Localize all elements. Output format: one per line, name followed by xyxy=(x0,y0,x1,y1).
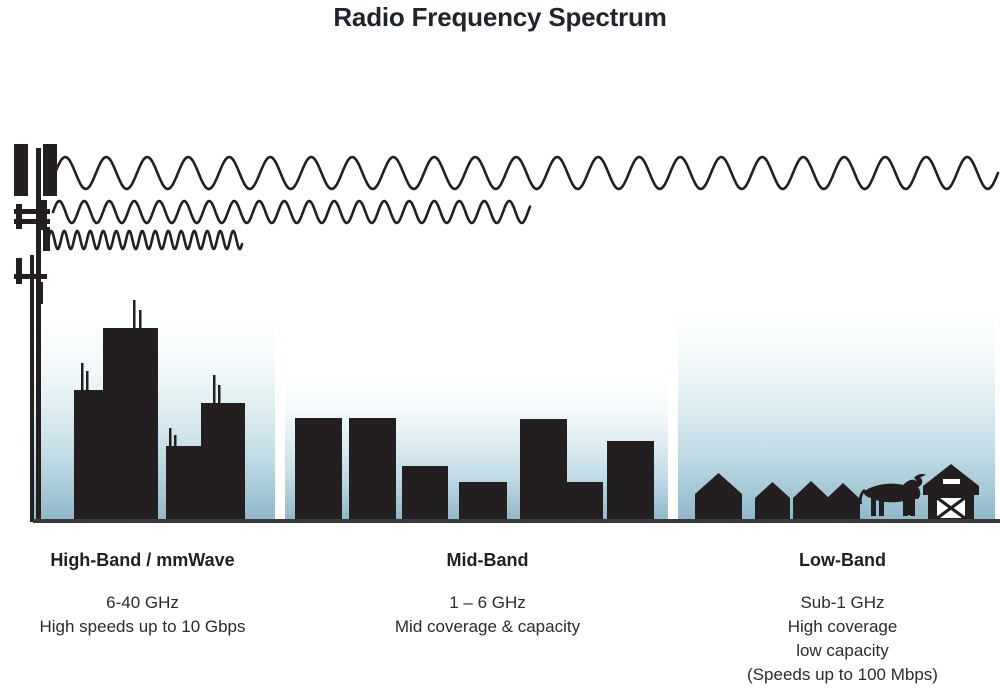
band-name-high: High-Band / mmWave xyxy=(0,548,285,574)
band-detail-low-1: High coverage xyxy=(700,615,985,639)
band-detail-low-3: (Speeds up to 100 Mbps) xyxy=(700,663,985,687)
high-band-wave xyxy=(48,231,242,249)
skyscraper-1-spire-a xyxy=(81,363,84,391)
band-frequency-mid: 1 – 6 GHz xyxy=(345,591,630,615)
band-name-low: Low-Band xyxy=(700,548,985,574)
mid-band-wave xyxy=(53,201,530,223)
midrise-6 xyxy=(607,441,654,520)
band-frequency-high: 6-40 GHz xyxy=(0,591,285,615)
band-name-mid: Mid-Band xyxy=(345,548,630,574)
cow-leg-3 xyxy=(903,500,908,516)
tower-mast xyxy=(36,148,41,522)
skyscraper-2-spire-b xyxy=(139,310,142,329)
midrise-5-annex xyxy=(567,482,603,520)
tower-mast-foot xyxy=(39,282,43,304)
cow-leg-1 xyxy=(871,498,876,516)
midrise-1 xyxy=(295,418,342,520)
caption-high-band: High-Band / mmWave 6-40 GHz High speeds … xyxy=(0,548,285,639)
cow-leg-4 xyxy=(910,498,915,516)
caption-low-band: Low-Band Sub-1 GHz High coverage low cap… xyxy=(700,548,985,687)
midrise-3 xyxy=(402,466,448,520)
skyscraper-2 xyxy=(103,328,158,520)
caption-mid-band: Mid-Band 1 – 6 GHz Mid coverage & capaci… xyxy=(345,548,630,639)
skyscraper-4-spire-a xyxy=(213,375,216,404)
skyscraper-4 xyxy=(201,403,245,520)
barn-eave-left xyxy=(923,489,979,495)
tower-antenna-panel-low xyxy=(16,258,22,284)
midrise-4 xyxy=(459,482,507,520)
midrise-5 xyxy=(520,419,567,520)
tower-antenna-panel-mid-right xyxy=(41,200,47,230)
skyscraper-1 xyxy=(74,390,103,520)
midrise-2 xyxy=(349,418,396,520)
skyscraper-3-spire-a xyxy=(169,428,172,447)
tower-antenna-panel-mid-left xyxy=(16,204,22,229)
skyscraper-2-spire-a xyxy=(133,300,136,329)
ground-line xyxy=(33,519,1000,523)
tower-antenna-panel-left xyxy=(14,144,28,196)
band-frequency-low: Sub-1 GHz xyxy=(700,591,985,615)
infographic-canvas: Radio Frequency Spectrum xyxy=(0,0,1000,700)
tower-mast-secondary xyxy=(30,255,34,522)
skyscraper-1-spire-b xyxy=(86,371,89,391)
skyscraper-3 xyxy=(166,446,201,520)
low-band-wave xyxy=(55,157,998,189)
band-detail-high-1: High speeds up to 10 Gbps xyxy=(0,615,285,639)
barn-hayloft-window xyxy=(943,479,960,484)
skyscraper-3-spire-b xyxy=(174,435,177,447)
band-detail-low-2: low capacity xyxy=(700,639,985,663)
skyscraper-4-spire-b xyxy=(218,385,221,404)
band-detail-mid-1: Mid coverage & capacity xyxy=(345,615,630,639)
cow-leg-2 xyxy=(879,500,884,516)
